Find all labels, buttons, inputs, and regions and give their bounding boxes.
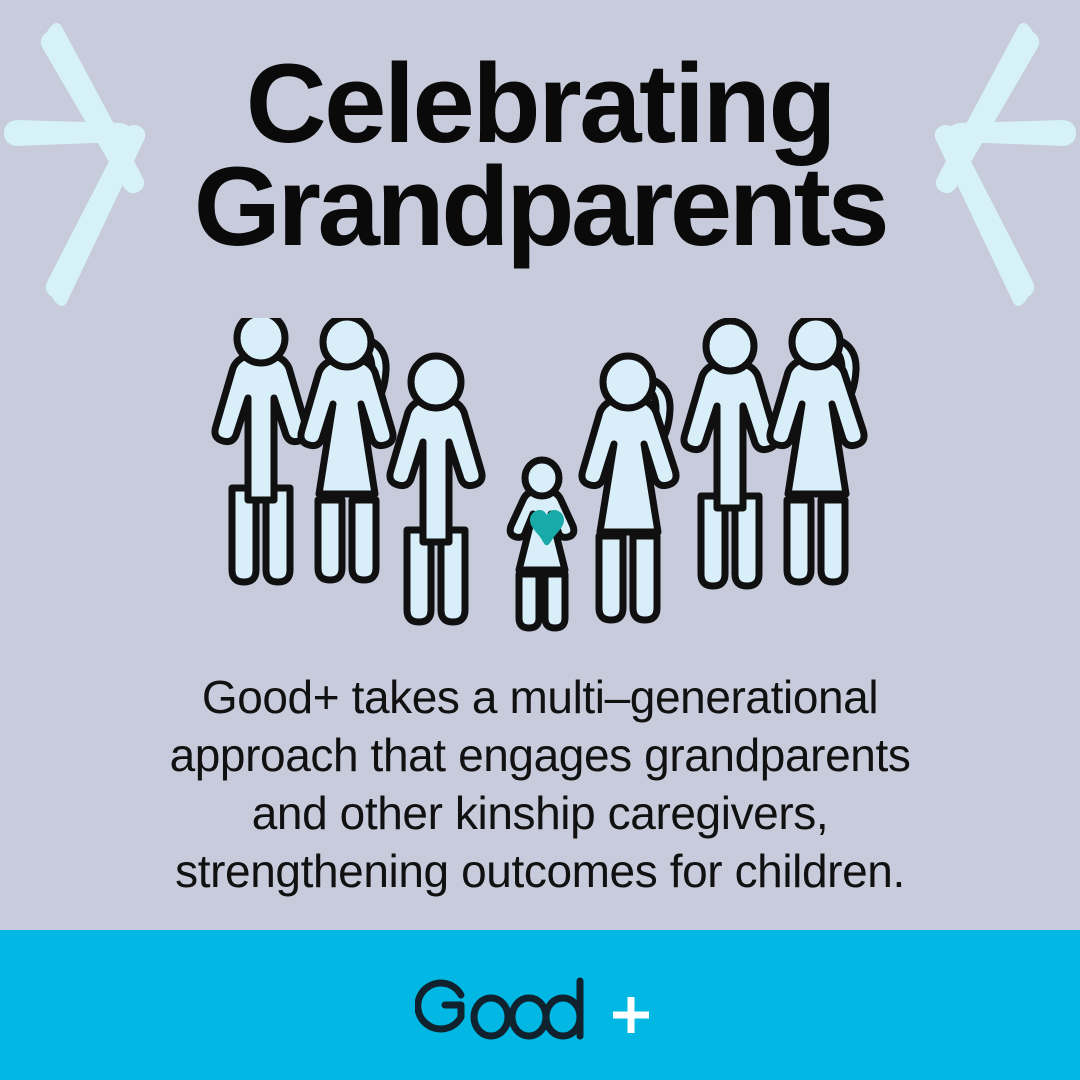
figure-woman-1 [301, 318, 393, 580]
body-paragraph: Good+ takes a multi–generational approac… [70, 668, 1010, 900]
poster-canvas: Celebrating Grandparents [0, 0, 1080, 1080]
figure-man-1 [215, 318, 307, 582]
figure-man-3 [684, 321, 776, 586]
headline-line-2: Grandparents [0, 155, 1080, 258]
headline-line-1: Celebrating [0, 52, 1080, 155]
logo-wordmark [418, 981, 580, 1036]
figure-woman-2 [582, 356, 676, 620]
logo-plus-icon [613, 997, 649, 1033]
figure-woman-3 [770, 318, 864, 582]
family-illustration [206, 318, 882, 648]
footer-bar [0, 930, 1080, 1080]
good-plus-logo [390, 960, 690, 1050]
body-line-1: Good+ takes a multi–generational [70, 668, 1010, 726]
figure-child [510, 460, 574, 628]
headline: Celebrating Grandparents [0, 52, 1080, 258]
body-line-3: and other kinship caregivers, [70, 784, 1010, 842]
figure-man-2 [390, 356, 482, 622]
body-line-2: approach that engages grandparents [70, 726, 1010, 784]
body-line-4: strengthening outcomes for children. [70, 842, 1010, 900]
